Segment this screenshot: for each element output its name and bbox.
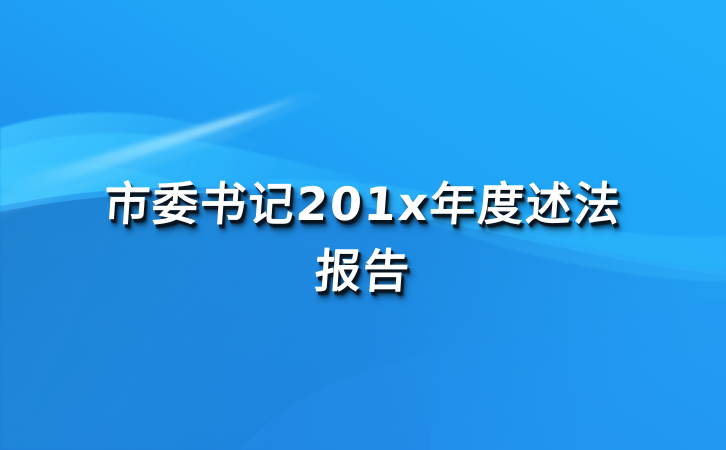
title-slide: 市委书记201x年度述法 报告 bbox=[0, 0, 726, 450]
background-artwork bbox=[0, 0, 726, 450]
